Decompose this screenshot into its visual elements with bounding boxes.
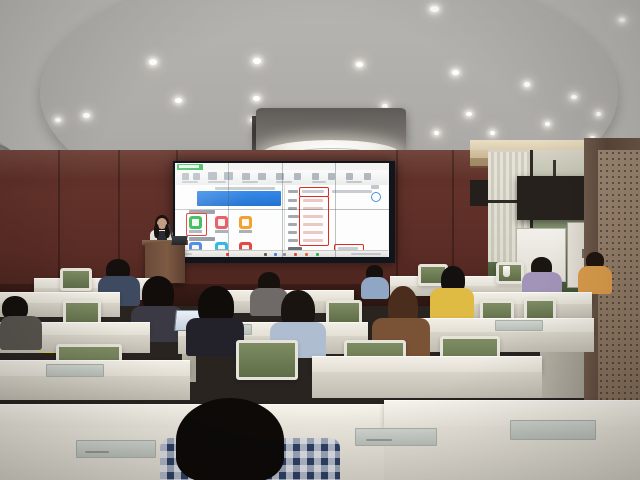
chair — [63, 300, 95, 322]
section-header-secondary — [189, 237, 215, 241]
downlight-icon — [596, 112, 601, 116]
chair-back — [496, 262, 524, 284]
taskbar-icon[interactable] — [283, 253, 286, 256]
monitor-slot[interactable] — [495, 320, 543, 331]
desk-front — [312, 372, 542, 398]
ribbon-icon[interactable] — [328, 173, 335, 180]
attendee-torso — [0, 316, 42, 350]
taskbar-icon[interactable] — [294, 253, 297, 256]
downlight-icon — [571, 95, 577, 99]
downlight-icon — [490, 131, 495, 135]
presenter-hair-strand — [154, 224, 159, 238]
video-wall-seam — [175, 209, 389, 210]
training-room-scene — [0, 0, 640, 480]
app-icon-red[interactable] — [215, 216, 228, 229]
downlight-icon — [149, 59, 157, 65]
form-label — [288, 215, 299, 218]
chair-back — [60, 268, 92, 291]
taskbar-icon[interactable] — [274, 253, 277, 256]
app-icon-red-label — [215, 230, 228, 233]
ribbon-icon[interactable] — [312, 173, 319, 180]
form-label — [288, 199, 297, 202]
downlight-icon — [452, 70, 459, 75]
app-icon-orange[interactable] — [239, 216, 252, 229]
ribbon-icon[interactable] — [258, 173, 266, 180]
downlight-icon — [253, 96, 260, 101]
ribbon-icon[interactable] — [364, 173, 371, 180]
desk-front — [0, 376, 190, 400]
ribbon-icon[interactable] — [294, 173, 301, 180]
taskbar-icon[interactable] — [316, 253, 319, 256]
downlight-icon — [356, 62, 363, 67]
form-label — [288, 223, 297, 226]
downlight-icon — [55, 118, 61, 122]
video-wall-seam — [282, 163, 283, 257]
ribbon-label — [346, 181, 362, 183]
downlight-icon — [430, 6, 439, 12]
panel-divider — [284, 185, 285, 251]
downlight-icon — [83, 113, 90, 118]
attendee-torso — [430, 288, 474, 322]
ribbon-label — [276, 181, 292, 183]
video-wall-seam — [335, 163, 336, 257]
chair — [524, 298, 550, 317]
paper-cup — [503, 266, 510, 277]
downlight-icon — [524, 82, 530, 87]
monitor-slot[interactable] — [46, 364, 104, 377]
breadcrumb — [215, 187, 275, 190]
form-hint-text — [332, 190, 372, 193]
attendee-hair — [176, 398, 284, 480]
form-label — [288, 190, 298, 193]
monitor-slot[interactable] — [355, 428, 437, 446]
desk-pedestal — [540, 352, 584, 398]
chair — [418, 264, 442, 280]
downlight-icon — [175, 98, 182, 103]
downlight-icon — [434, 131, 439, 135]
chair — [60, 268, 86, 285]
chair — [236, 340, 292, 374]
downlight-icon — [466, 112, 472, 116]
video-wall-screen[interactable] — [175, 163, 389, 257]
chair — [326, 300, 356, 320]
attendee-torso — [578, 266, 612, 294]
chair — [480, 300, 508, 320]
ribbon-label — [208, 181, 226, 183]
app-tab-label — [179, 165, 199, 168]
taskbar-icon[interactable] — [264, 253, 267, 256]
selection-highlight-box — [186, 213, 207, 236]
annotation-box-column — [299, 196, 329, 246]
ribbon-label — [182, 181, 198, 183]
app-icon-orange-label — [239, 230, 252, 233]
ribbon-label — [312, 181, 326, 183]
video-wall-seam — [228, 163, 229, 257]
downlight-icon — [619, 18, 625, 22]
presenter-laptop[interactable] — [171, 236, 187, 245]
monitor-slot-vent — [85, 451, 109, 453]
taskbar-icon[interactable] — [305, 253, 308, 256]
ribbon-icon[interactable] — [208, 172, 217, 180]
wall-mounted-display[interactable] — [517, 176, 593, 220]
system-tray[interactable] — [351, 253, 381, 255]
ribbon-icon[interactable] — [346, 173, 353, 180]
monitor-slot[interactable] — [76, 440, 156, 458]
monitor-slot-vent — [366, 439, 392, 441]
ribbon-icon[interactable] — [193, 173, 200, 180]
attendee-torso — [361, 277, 389, 299]
ribbon-icon[interactable] — [182, 173, 189, 180]
downlight-icon — [545, 122, 550, 126]
downlight-icon — [253, 58, 261, 64]
monitor-slot[interactable] — [510, 420, 596, 440]
help-icon[interactable] — [371, 192, 381, 202]
chair-back — [236, 340, 298, 380]
panel-tool-icon[interactable] — [371, 185, 379, 189]
form-label — [288, 231, 297, 234]
feature-banner[interactable] — [197, 191, 281, 206]
form-label — [288, 239, 298, 242]
desk — [312, 356, 542, 373]
ribbon-label — [242, 181, 258, 183]
ribbon-icon[interactable] — [242, 173, 250, 180]
wall-speaker — [470, 180, 488, 206]
